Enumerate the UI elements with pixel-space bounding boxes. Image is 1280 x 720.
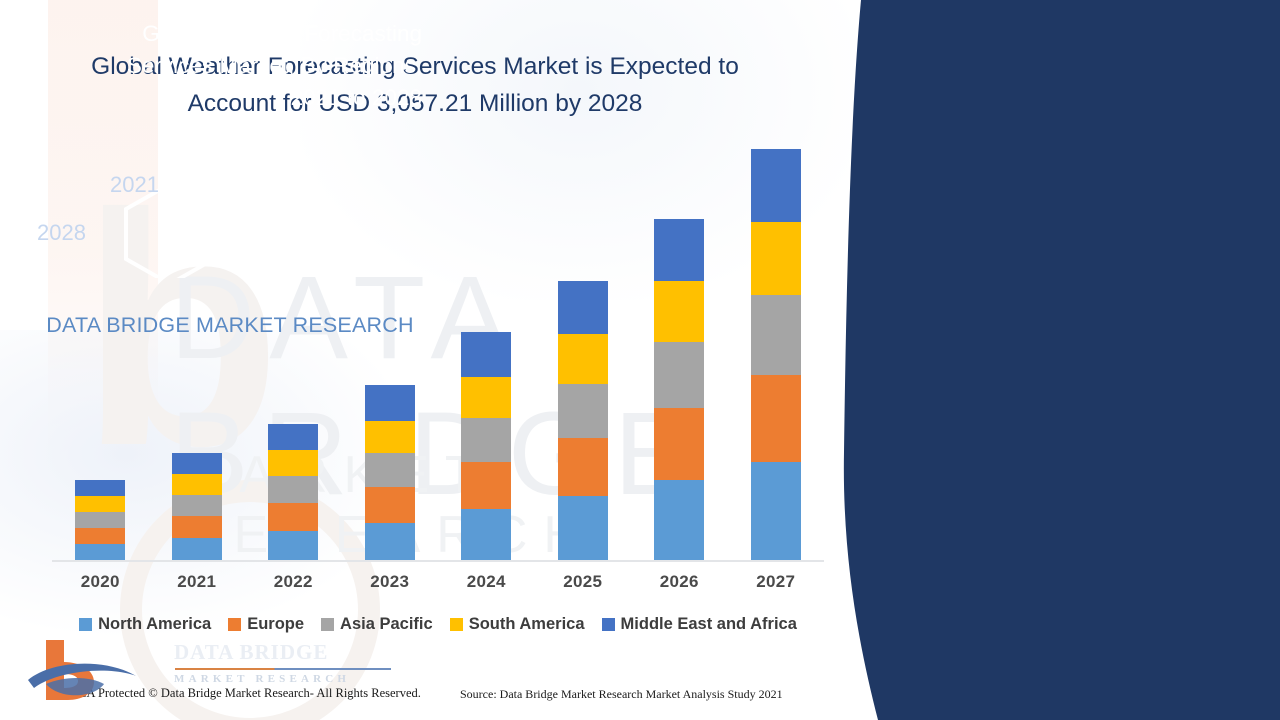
bar-segment[interactable] bbox=[751, 149, 801, 222]
bar-segment[interactable] bbox=[654, 342, 704, 408]
bar-segment[interactable] bbox=[654, 219, 704, 281]
legend-label: South America bbox=[469, 615, 585, 634]
brand-logo-rule bbox=[175, 668, 391, 670]
stacked-bar[interactable] bbox=[654, 219, 704, 560]
x-axis-label: 2025 bbox=[535, 572, 632, 592]
brand-logo-subtitle: MARKET RESEARCH bbox=[174, 673, 391, 685]
bar-segment[interactable] bbox=[751, 462, 801, 560]
hexagon-badges bbox=[108, 148, 308, 278]
x-axis-label: 2027 bbox=[728, 572, 825, 592]
legend-swatch-icon bbox=[602, 618, 615, 631]
brand-logo: DATA BRIDGE MARKET RESEARCH bbox=[24, 636, 444, 706]
side-panel-shape bbox=[844, 0, 1280, 720]
bar-segment[interactable] bbox=[654, 281, 704, 342]
brand-logo-title: DATA BRIDGE bbox=[174, 640, 391, 665]
side-panel bbox=[820, 0, 1280, 720]
hexagon-2021-outline bbox=[218, 150, 294, 238]
x-axis-label: 2026 bbox=[631, 572, 728, 592]
bar-slot bbox=[631, 170, 728, 560]
bar-segment[interactable] bbox=[558, 334, 608, 384]
bar-segment[interactable] bbox=[461, 418, 511, 462]
bar-segment[interactable] bbox=[461, 509, 511, 560]
legend-label: Middle East and Africa bbox=[621, 615, 797, 634]
hexagon-2028-label: 2028 bbox=[37, 220, 86, 246]
bar-segment[interactable] bbox=[461, 462, 511, 509]
panel-title: Global Weather Forecasting Services Mark… bbox=[92, 18, 422, 114]
bar-segment[interactable] bbox=[558, 384, 608, 438]
bar-slot bbox=[535, 170, 632, 560]
bar-segment[interactable] bbox=[461, 332, 511, 377]
brand-logo-text: DATA BRIDGE MARKET RESEARCH bbox=[174, 640, 391, 685]
infographic-page: b DATA BRIDGE MARKET RESEARCH Global Wea… bbox=[0, 0, 1280, 720]
hexagon-2021-label: 2021 bbox=[110, 172, 159, 198]
stacked-bar[interactable] bbox=[751, 149, 801, 560]
bar-segment[interactable] bbox=[558, 496, 608, 560]
bar-segment[interactable] bbox=[654, 480, 704, 560]
bar-segment[interactable] bbox=[751, 295, 801, 375]
bar-segment[interactable] bbox=[558, 281, 608, 334]
bar-segment[interactable] bbox=[751, 222, 801, 295]
bar-segment[interactable] bbox=[654, 408, 704, 480]
bar-segment[interactable] bbox=[751, 375, 801, 462]
bar-segment[interactable] bbox=[461, 377, 511, 418]
legend-item[interactable]: Middle East and Africa bbox=[602, 615, 797, 634]
stacked-bar[interactable] bbox=[558, 281, 608, 560]
panel-brand-text: DATA BRIDGE MARKET RESEARCH bbox=[40, 310, 420, 340]
source-notice: Source: Data Bridge Market Research Mark… bbox=[460, 687, 783, 702]
side-panel-content: Global Weather Forecasting Services Mark… bbox=[0, 0, 460, 720]
stacked-bar[interactable] bbox=[461, 332, 511, 560]
bar-segment[interactable] bbox=[558, 438, 608, 496]
bar-slot bbox=[728, 170, 825, 560]
brand-logo-glyph bbox=[24, 636, 154, 702]
legend-item[interactable]: South America bbox=[450, 615, 585, 634]
hexagon-2028-outline bbox=[126, 184, 214, 278]
